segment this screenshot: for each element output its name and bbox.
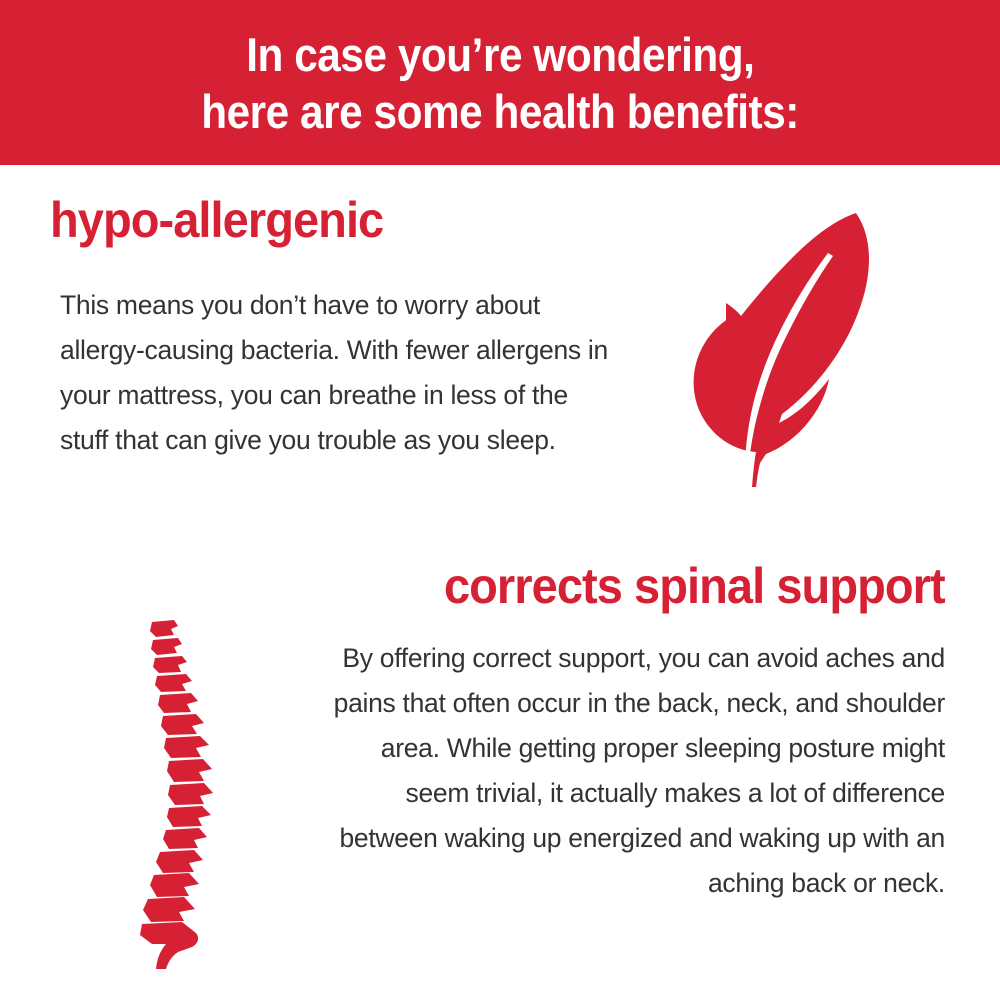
benefit-body-hypo-allergenic: This means you don’t have to worry about… [60, 283, 620, 463]
header-banner: In case you’re wondering, here are some … [0, 0, 1000, 165]
feather-icon [660, 205, 900, 495]
benefit-body-corrects-spinal-support: By offering correct support, you can avo… [315, 636, 945, 906]
banner-title-line-1: In case you’re wondering, [246, 26, 754, 83]
banner-title-line-2: here are some health benefits: [201, 83, 799, 140]
spine-icon [112, 614, 252, 969]
benefit-heading-corrects-spinal-support: corrects spinal support [444, 558, 945, 614]
benefit-heading-hypo-allergenic: hypo-allergenic [50, 192, 383, 248]
infographic-poster: In case you’re wondering, here are some … [0, 0, 1000, 1000]
